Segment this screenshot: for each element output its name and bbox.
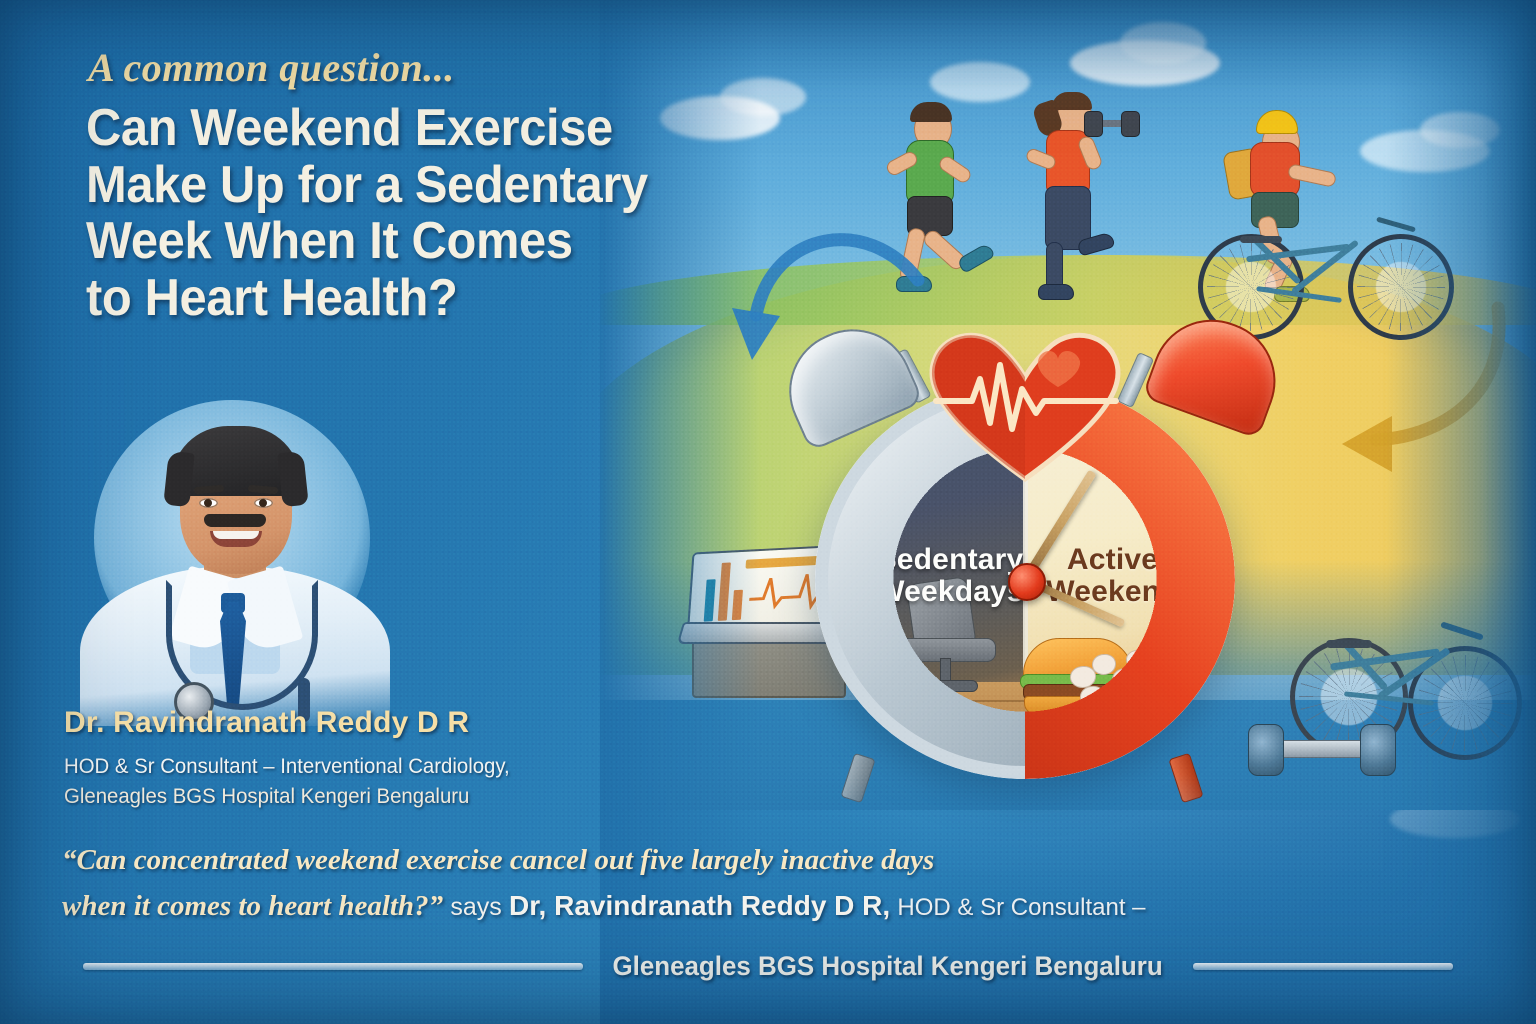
clock-label-sedentary-line2: Weekdays <box>876 575 1024 608</box>
running-shoes-icon <box>1168 640 1222 712</box>
heart-with-ecg-icon <box>920 317 1130 487</box>
pill <box>1126 650 1148 669</box>
bike-saddle <box>1240 236 1282 243</box>
cloud-icon <box>1120 22 1206 64</box>
doctor-role-line-2: Gleneagles BGS Hospital Kengeri Bengalur… <box>64 785 469 808</box>
doctor-portrait <box>70 390 400 720</box>
shoe-sole <box>1210 688 1222 702</box>
headline-line-2: Make Up for a Sedentary <box>86 157 735 214</box>
clock-label-sedentary-line1: Sedentary <box>877 543 1024 576</box>
dumbbell-plate-right <box>1121 111 1140 137</box>
screen-bar-chart <box>732 590 743 620</box>
dumbbell-icon <box>1084 110 1138 136</box>
clock-center-hub <box>1008 563 1046 601</box>
pull-quote: “Can concentrated weekend exercise cance… <box>62 838 1482 930</box>
quote-line-1: “Can concentrated weekend exercise cance… <box>62 844 934 876</box>
doctor-pupil-right <box>259 499 267 507</box>
dumbbell-woman-figure <box>1030 88 1160 303</box>
doctor-role: HOD & Sr Consultant – Interventional Car… <box>64 752 665 812</box>
cloud-icon <box>930 62 1030 102</box>
poster-canvas: Sedentary Weekdays Active Weekend <box>0 0 1536 1024</box>
dumbbell-bar <box>1274 740 1370 758</box>
footer-bar: Gleneagles BGS Hospital Kengeri Bengalur… <box>0 944 1536 988</box>
pill <box>1092 654 1116 675</box>
alarm-clock: Sedentary Weekdays Active Weekend <box>775 325 1275 795</box>
doctor-name: Dr. Ravindranath Reddy D R <box>64 706 469 740</box>
helmet-icon <box>1256 110 1298 134</box>
runner-shoe-back <box>956 242 995 274</box>
dumbbell-plate-left <box>1084 111 1103 137</box>
quote-line-2: when it comes to heart health?” <box>62 890 443 922</box>
pill <box>1080 686 1105 707</box>
screen-bar-chart <box>718 563 731 621</box>
footer-rule-left <box>83 963 583 970</box>
bike-saddle <box>1326 640 1372 648</box>
doctor-moustache <box>204 514 266 527</box>
doctor-role-line-1: HOD & Sr Consultant – Interventional Car… <box>64 755 510 778</box>
pill <box>1106 690 1134 712</box>
shoe-front <box>1210 644 1222 698</box>
floor-plank <box>828 722 1222 724</box>
dumbbell-plate-right <box>1360 724 1396 776</box>
doctor-mouth <box>210 531 262 547</box>
pill <box>1070 666 1096 688</box>
cloud-icon <box>1420 112 1500 148</box>
pill <box>1132 686 1155 706</box>
eyebrow-text: A common question... <box>88 44 455 91</box>
page-title: Can Weekend Exercise Make Up for a Seden… <box>86 100 735 327</box>
headline-line-3: Week When It Comes <box>86 213 735 270</box>
woman-hair <box>1052 92 1092 110</box>
quote-attribution-role: HOD & Sr Consultant – <box>897 894 1145 921</box>
quote-says: says <box>450 893 501 921</box>
doctor-teeth <box>213 531 259 539</box>
woman-shoe-down <box>1038 284 1074 300</box>
bike-handlebar <box>1440 621 1484 640</box>
doctor-pupil-left <box>204 499 212 507</box>
quote-attribution-name: Dr, Ravindranath Reddy D R, <box>509 890 890 921</box>
footer-rule-right <box>1193 963 1453 970</box>
footer-hospital-name: Gleneagles BGS Hospital Kengeri Bengalur… <box>613 951 1163 982</box>
clock-label-active: Active Weekend <box>1025 544 1200 607</box>
headline-line-1: Can Weekend Exercise <box>86 100 735 157</box>
clock-label-active-line1: Active <box>1067 543 1158 576</box>
screen-bar-chart <box>704 579 716 621</box>
headline-line-4: to Heart Health? <box>86 270 735 327</box>
floor-plank <box>828 744 1222 746</box>
curved-arrow-gold-icon <box>1280 300 1530 520</box>
chair-base <box>914 680 978 692</box>
bike-handlebar <box>1376 217 1416 233</box>
runner-hair <box>910 102 952 122</box>
